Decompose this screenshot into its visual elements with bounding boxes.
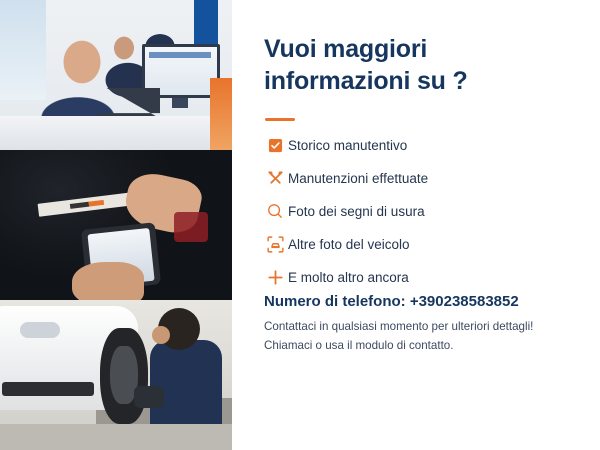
window-light <box>0 0 46 100</box>
plus-icon <box>262 269 288 286</box>
orange-wall-accent <box>210 78 232 150</box>
feature-list: Storico manutentivo Manutenzioni effettu… <box>262 131 562 296</box>
list-item: Altre foto del veicolo <box>262 230 562 258</box>
list-item-label: Storico manutentivo <box>288 138 407 153</box>
tail-light <box>174 212 208 242</box>
photo-column <box>0 0 232 450</box>
headlight <box>20 322 60 338</box>
content-panel: Vuoi maggiori informazioni su ? Saremo f… <box>232 0 600 450</box>
contact-subtext: Contattaci in qualsiasi momento per ulte… <box>264 318 533 356</box>
mechanic-glove <box>134 386 164 408</box>
front-tyre <box>100 328 148 424</box>
list-item-label: Altre foto del veicolo <box>288 237 410 252</box>
photo-mechanic-lift <box>0 300 232 450</box>
monitor-stand <box>172 98 188 108</box>
list-item: Storico manutentivo <box>262 131 562 159</box>
contact-subtext-line2: Chiamaci o usa il modulo di contatto. <box>264 337 533 356</box>
desk-surface <box>0 116 232 150</box>
measuring-strip <box>38 192 135 217</box>
photo-vehicle-inspection <box>0 150 232 300</box>
wall-banner <box>194 0 218 44</box>
promo-poster: Vuoi maggiori informazioni su ? Saremo f… <box>0 0 600 450</box>
list-item-label: E molto altro ancora <box>288 270 409 285</box>
list-item: Foto dei segni di usura <box>262 197 562 225</box>
list-item: Manutenzioni effettuate <box>262 164 562 192</box>
mechanic-head <box>158 308 200 350</box>
hand-lower <box>72 262 144 300</box>
checkbox-checked-icon <box>262 138 288 153</box>
tools-wrench-screwdriver-icon <box>262 170 288 187</box>
garage-floor <box>0 424 232 450</box>
list-item: E molto altro ancora <box>262 263 562 291</box>
photo-call-center <box>0 0 232 150</box>
phone-number[interactable]: Numero di telefono: +390238583852 <box>264 293 519 310</box>
list-item-label: Foto dei segni di usura <box>288 204 425 219</box>
car-scan-frame-icon <box>262 236 288 253</box>
list-item-label: Manutenzioni effettuate <box>288 171 428 186</box>
contact-subtext-line1: Contattaci in qualsiasi momento per ulte… <box>264 318 533 337</box>
magnifier-icon <box>262 203 288 219</box>
page-title-line1: Vuoi maggiori <box>264 34 494 66</box>
title-divider <box>265 118 295 121</box>
page-title: Vuoi maggiori informazioni su ? <box>264 34 494 97</box>
page-title-line2: informazioni su ? <box>264 66 494 98</box>
